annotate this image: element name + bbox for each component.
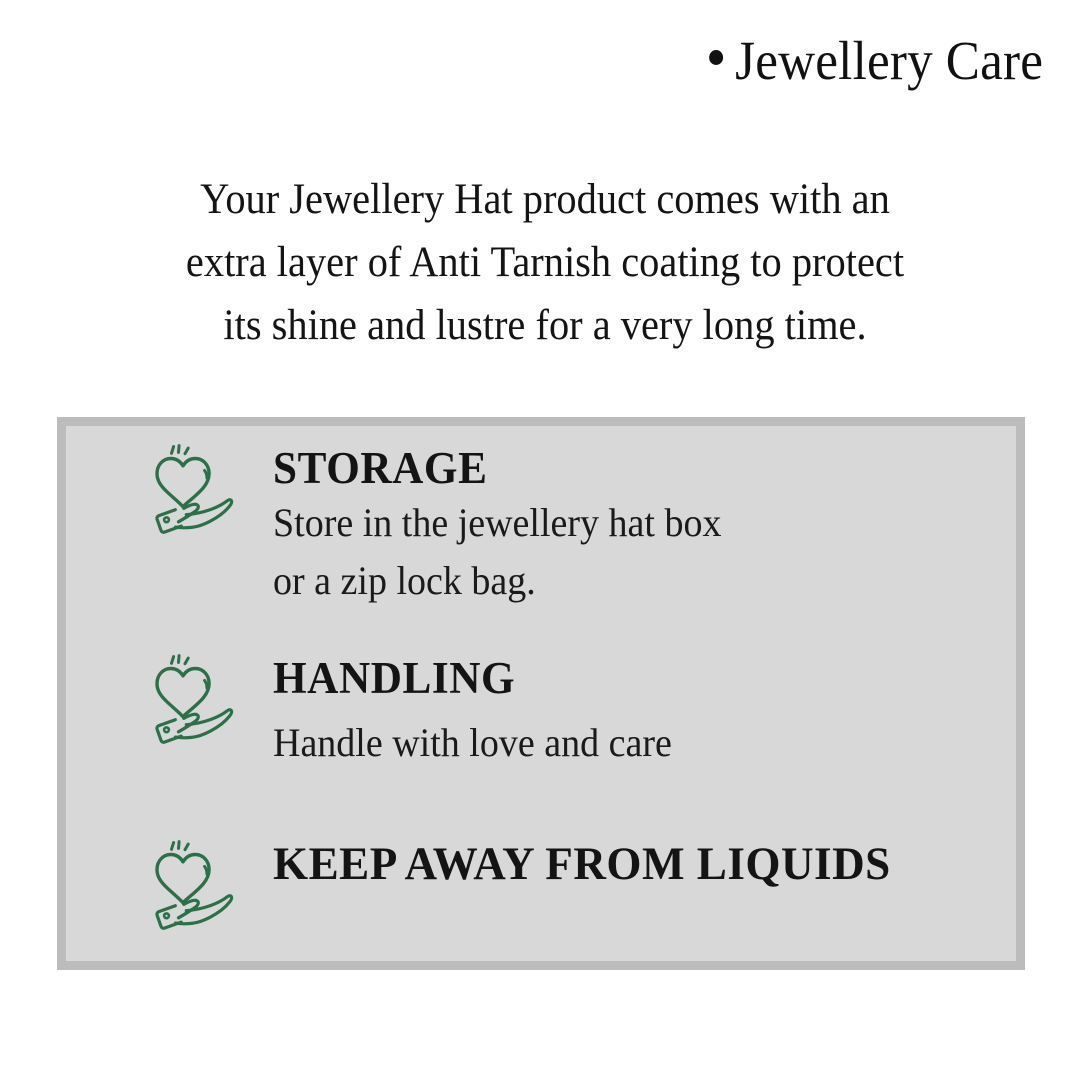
heart-in-hand-icon (145, 444, 245, 536)
care-item-text: KEEP AWAY FROM LIQUIDS (273, 838, 1016, 890)
intro-line: extra layer of Anti Tarnish coating to p… (117, 231, 972, 294)
care-item-keep-away-from-liquids: KEEP AWAY FROM LIQUIDS (66, 838, 1016, 932)
care-item-storage: STORAGE Store in the jewellery hat box o… (66, 442, 1016, 610)
care-item-line: or a zip lock bag. (273, 552, 979, 610)
care-instructions-panel: STORAGE Store in the jewellery hat box o… (57, 417, 1025, 970)
intro-line: Your Jewellery Hat product comes with an (117, 168, 972, 231)
care-item-heading: KEEP AWAY FROM LIQUIDS (273, 838, 986, 890)
heart-in-hand-icon (145, 840, 245, 932)
care-item-heading: HANDLING (273, 652, 986, 704)
care-item-text: HANDLING Handle with love and care (273, 652, 1016, 772)
care-item-handling: HANDLING Handle with love and care (66, 652, 1016, 772)
care-item-text: STORAGE Store in the jewellery hat box o… (273, 442, 1016, 610)
intro-line: its shine and lustre for a very long tim… (117, 294, 972, 357)
care-item-line: Handle with love and care (273, 714, 979, 772)
page-title: Jewellery Care (709, 30, 1043, 92)
intro-paragraph: Your Jewellery Hat product comes with an… (90, 168, 1000, 357)
care-item-heading: STORAGE (273, 442, 986, 494)
page-title-label: Jewellery Care (735, 30, 1043, 91)
page-title-row: Jewellery Care (0, 30, 1043, 92)
bullet-icon (709, 50, 723, 65)
care-item-line: Store in the jewellery hat box (273, 494, 979, 552)
heart-in-hand-icon (145, 654, 245, 746)
